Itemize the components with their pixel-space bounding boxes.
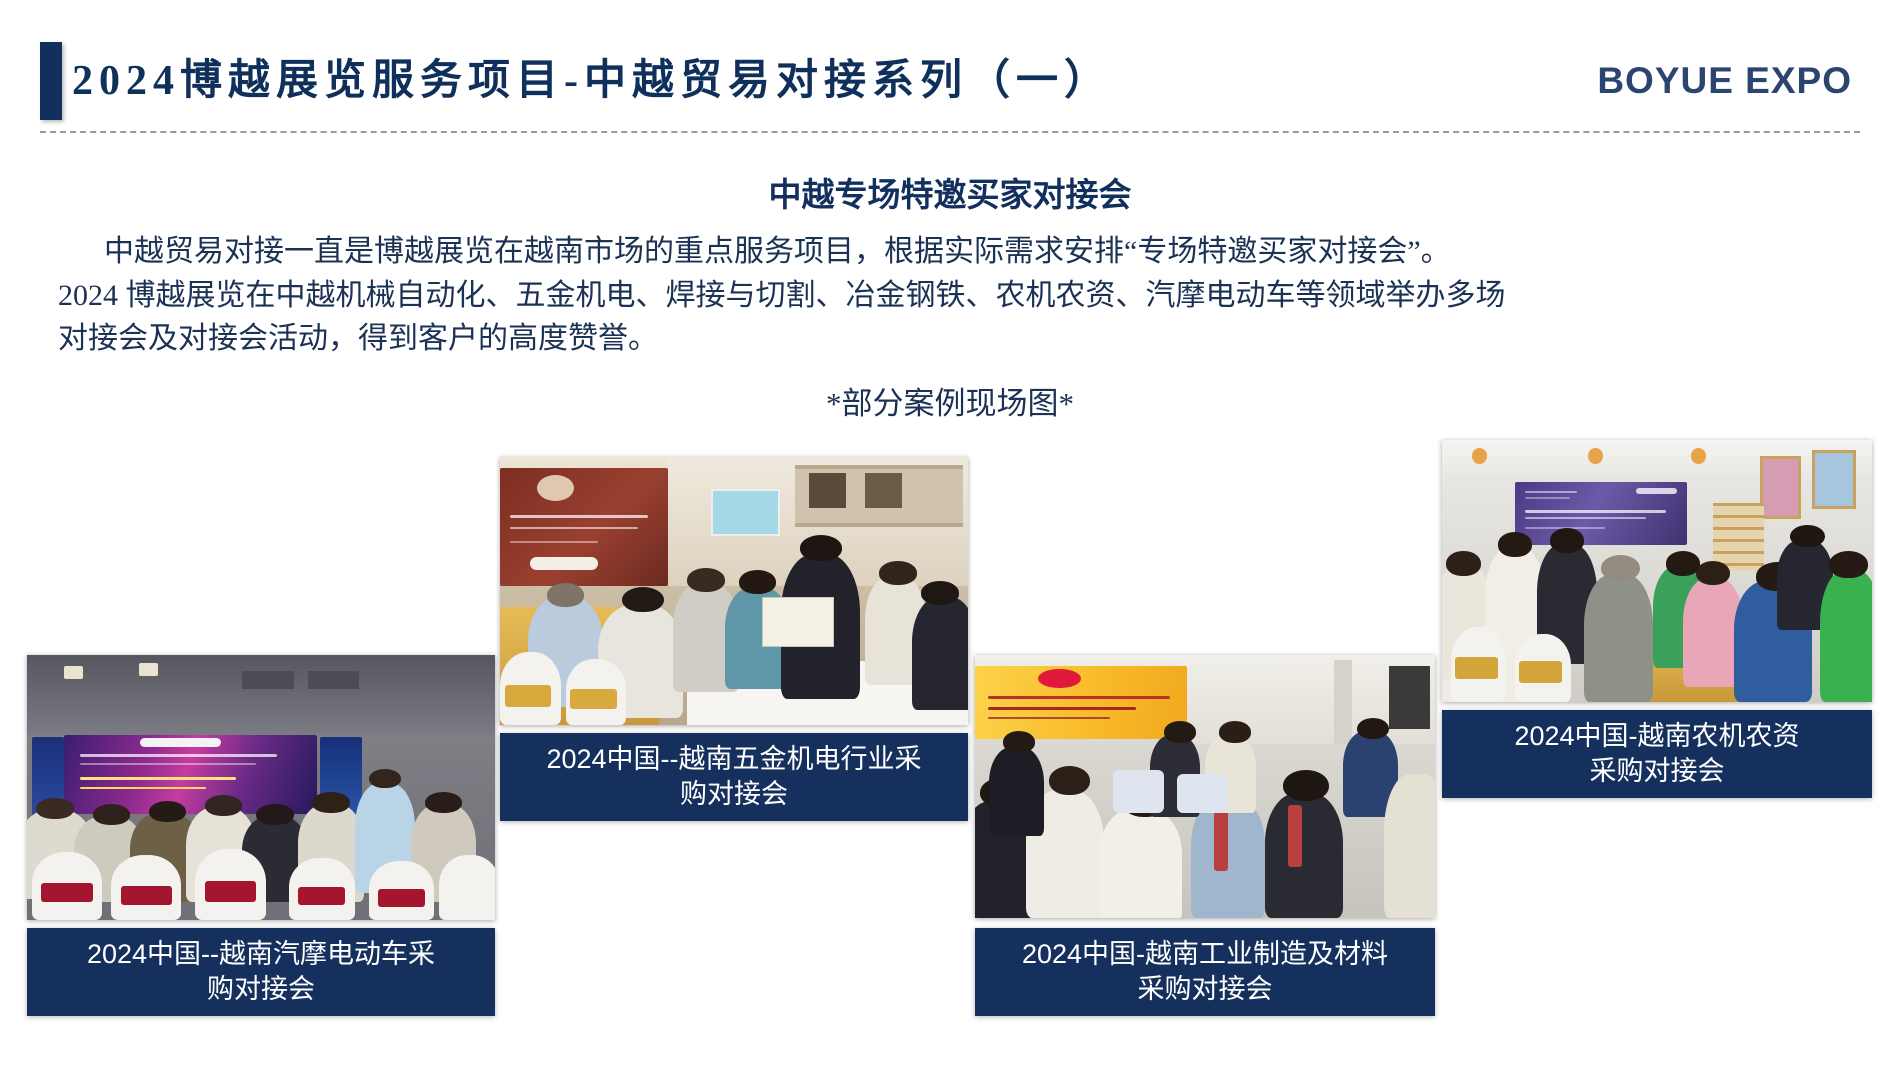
gallery-photo-auto-moto-ev[interactable] (27, 655, 495, 920)
attendee-head (547, 583, 584, 607)
banner-text-line (80, 763, 257, 765)
chair-sash (41, 883, 92, 902)
crowd (27, 772, 495, 920)
chair-sash (205, 881, 256, 902)
attendee-head (1049, 766, 1090, 795)
banner-logo (1038, 669, 1080, 688)
backdrop-text-line (510, 527, 638, 529)
caption-agri-machinery: 2024中国-越南农机农资 采购对接会 (1442, 710, 1872, 798)
dark-panel (1389, 666, 1430, 729)
paragraph-line-2: 2024 博越展览在中越机械自动化、五金机电、焊接与切割、冶金钢铁、农机农资、汽… (58, 279, 1506, 312)
photo-image (975, 655, 1435, 918)
attendee (1191, 797, 1265, 918)
banner-logo-strip (140, 738, 221, 748)
attendee-head (1790, 525, 1824, 548)
attendee-head (369, 769, 402, 788)
attendee-head (149, 801, 186, 822)
chair-sash (298, 887, 345, 905)
caption-text: 2024中国--越南汽摩电动车采 购对接会 (87, 937, 435, 1006)
chair (1113, 770, 1164, 813)
attendee-head (205, 795, 242, 816)
caption-auto-moto-ev: 2024中国--越南汽摩电动车采 购对接会 (27, 928, 495, 1016)
chair (1177, 774, 1228, 813)
ceiling-duct (242, 671, 293, 690)
gallery-photo-industrial-materials[interactable] (975, 655, 1435, 918)
attendee-head (1003, 731, 1035, 752)
attendee-head (622, 587, 664, 613)
attendee-head (312, 792, 349, 813)
chair-sash (1519, 661, 1562, 684)
wall-art (1760, 456, 1800, 520)
attendee (1820, 570, 1872, 702)
chair-sash (570, 689, 617, 709)
photo-image (27, 655, 495, 920)
screen-text-line (1525, 497, 1570, 499)
attendee-head (1550, 528, 1584, 553)
backdrop-text-line (510, 515, 648, 518)
brochure (762, 597, 834, 646)
attendee (1384, 774, 1435, 918)
brand-logo-text: BOYUE EXPO (1597, 60, 1852, 102)
attendee-head (1283, 770, 1329, 801)
lanyard (1214, 805, 1228, 871)
presentation-slide: 2024博越展览服务项目-中越贸易对接系列（一） BOYUE EXPO 中越专场… (0, 0, 1900, 1068)
ceiling-light (139, 663, 158, 676)
caption-hardware-electrical: 2024中国--越南五金机电行业采 购对接会 (500, 733, 968, 821)
crowd (500, 543, 968, 725)
screen-text-line (1525, 491, 1577, 493)
banner-text-line (988, 707, 1136, 710)
attendee-head (93, 804, 130, 825)
attendee-head (1219, 721, 1251, 742)
ceiling (27, 655, 495, 735)
caption-text: 2024中国--越南五金机电行业采 购对接会 (546, 742, 921, 811)
attendee-head (1601, 555, 1640, 581)
body-paragraph: 中越贸易对接一直是博越展览在越南市场的重点服务项目，根据实际需求安排“专场特邀买… (58, 230, 1848, 361)
header-divider (40, 131, 1860, 133)
attendee-head (1696, 561, 1730, 586)
attendee-head (1446, 551, 1480, 576)
attendee-standing (989, 747, 1044, 837)
section-title: 中越专场特邀买家对接会 (0, 168, 1900, 216)
backdrop-emblem (537, 475, 574, 501)
mezzanine-panel (809, 473, 846, 508)
pendant-light (1588, 448, 1603, 464)
attendee (1099, 809, 1182, 918)
screen-text-line (1525, 510, 1666, 513)
banner-text-line (988, 717, 1111, 719)
ceiling (1442, 440, 1872, 482)
projection-screen (711, 489, 781, 536)
attendee-head (879, 561, 916, 585)
paragraph-line-1: 中越贸易对接一直是博越展览在越南市场的重点服务项目，根据实际需求安排“专场特邀买… (58, 230, 1451, 274)
attendee-head (921, 581, 958, 605)
photo-image (500, 457, 968, 725)
attendee-head (36, 798, 73, 819)
ceiling-duct (308, 671, 359, 690)
mezzanine-panel (865, 473, 902, 508)
attendee-head (1829, 551, 1868, 577)
screen-logo (1636, 488, 1677, 494)
crowd (975, 723, 1435, 918)
attendee-head (256, 804, 293, 825)
caption-text: 2024中国-越南工业制造及材料 采购对接会 (1022, 937, 1388, 1006)
sample-photos-note: *部分案例现场图* (0, 378, 1900, 423)
caption-industrial-materials: 2024中国-越南工业制造及材料 采购对接会 (975, 928, 1435, 1016)
attendee-head (800, 535, 842, 561)
banner-text-line (80, 754, 277, 757)
chair-sash (1455, 657, 1498, 680)
chair (439, 855, 495, 920)
attendee (1584, 574, 1653, 702)
attendee-head (1666, 551, 1700, 576)
lanyard (1288, 805, 1302, 867)
page-title: 2024博越展览服务项目-中越贸易对接系列（一） (72, 46, 1112, 107)
wall-art (1812, 450, 1857, 508)
photo-image (1442, 440, 1872, 702)
gallery-photo-hardware-electrical[interactable] (500, 457, 968, 725)
chair-sash (121, 886, 172, 905)
chair-sash (378, 889, 425, 907)
attendee (912, 597, 968, 710)
gallery-photo-agri-machinery[interactable] (1442, 440, 1872, 702)
title-accent-bar (40, 42, 62, 120)
slide-header: 2024博越展览服务项目-中越贸易对接系列（一） BOYUE EXPO (0, 0, 1900, 140)
attendee-head (687, 568, 724, 592)
attendee-head (1498, 532, 1532, 557)
caption-text: 2024中国-越南农机农资 采购对接会 (1514, 719, 1799, 788)
chair-sash (505, 685, 552, 707)
attendee (1265, 793, 1343, 918)
attendee-head (739, 570, 776, 594)
pendant-light (1691, 448, 1706, 464)
attendee-head (425, 792, 462, 813)
attendee-head (1164, 721, 1196, 742)
banner-text-line (988, 696, 1170, 699)
ceiling-light (64, 666, 83, 679)
pendant-light (1472, 448, 1487, 464)
attendee-head (1357, 718, 1389, 739)
paragraph-line-3: 对接会及对接会活动，得到客户的高度赞誉。 (58, 322, 658, 355)
crowd (1442, 513, 1872, 702)
